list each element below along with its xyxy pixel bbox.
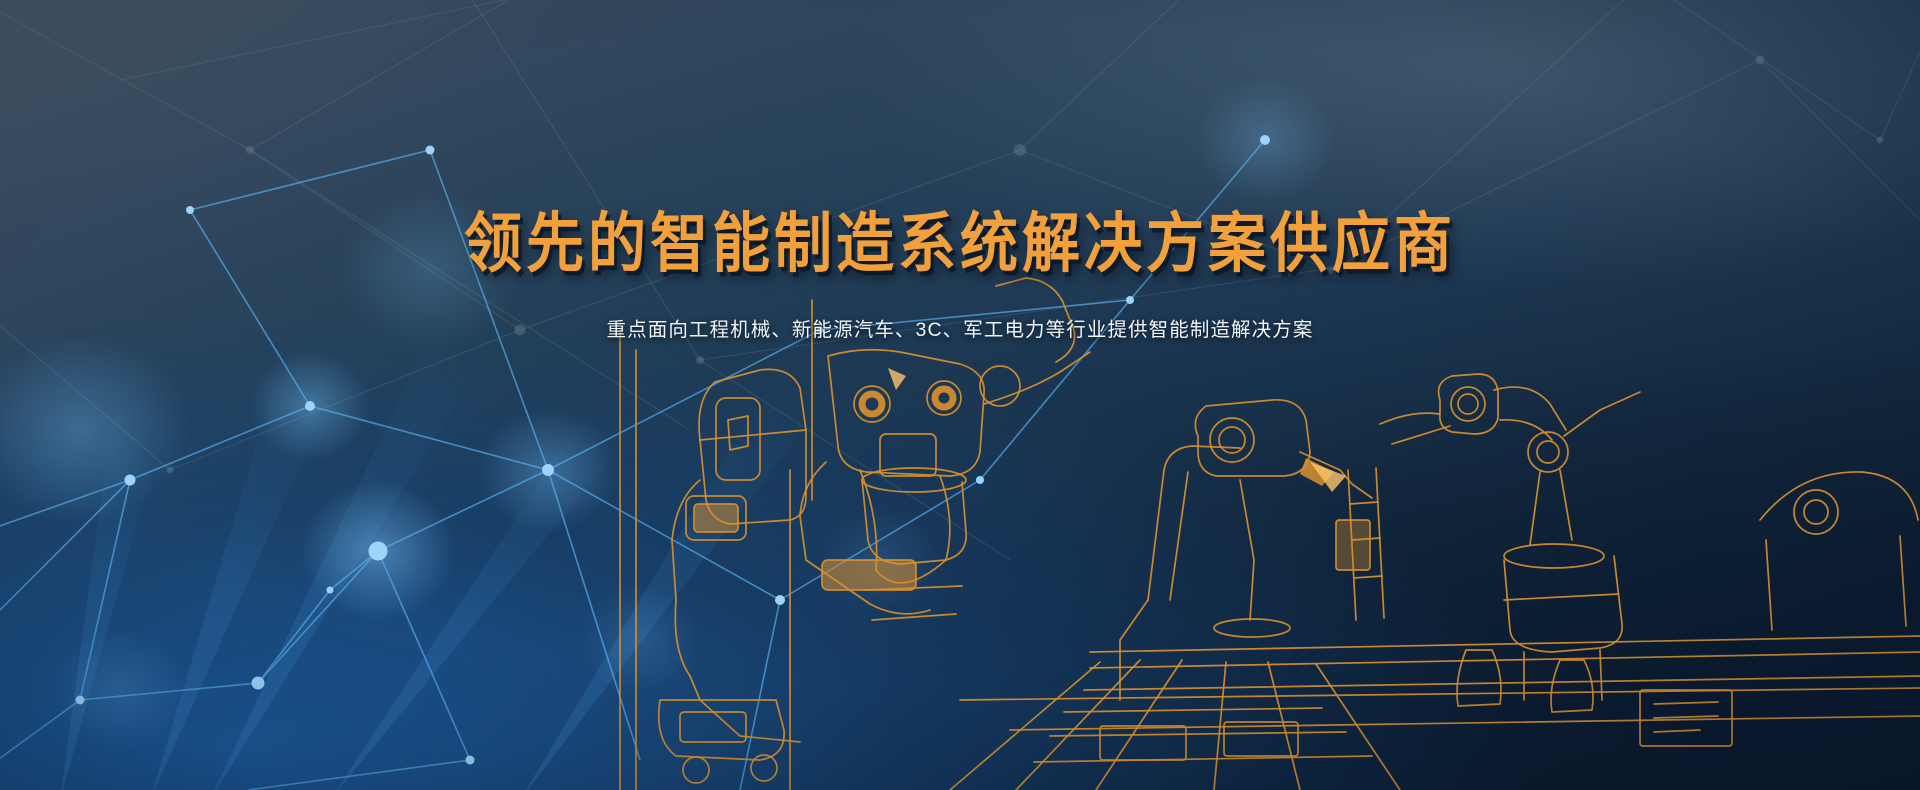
page-subtitle: 重点面向工程机械、新能源汽车、3C、军工电力等行业提供智能制造解决方案 — [0, 274, 1920, 342]
page-title: 领先的智能制造系统解决方案供应商 — [0, 206, 1920, 283]
hero-banner: 领先的智能制造系统解决方案供应商 重点面向工程机械、新能源汽车、3C、军工电力等… — [0, 0, 1920, 790]
industrial-robot-illustration — [0, 0, 1920, 790]
hero-text-block: 领先的智能制造系统解决方案供应商 重点面向工程机械、新能源汽车、3C、军工电力等… — [0, 206, 1920, 342]
